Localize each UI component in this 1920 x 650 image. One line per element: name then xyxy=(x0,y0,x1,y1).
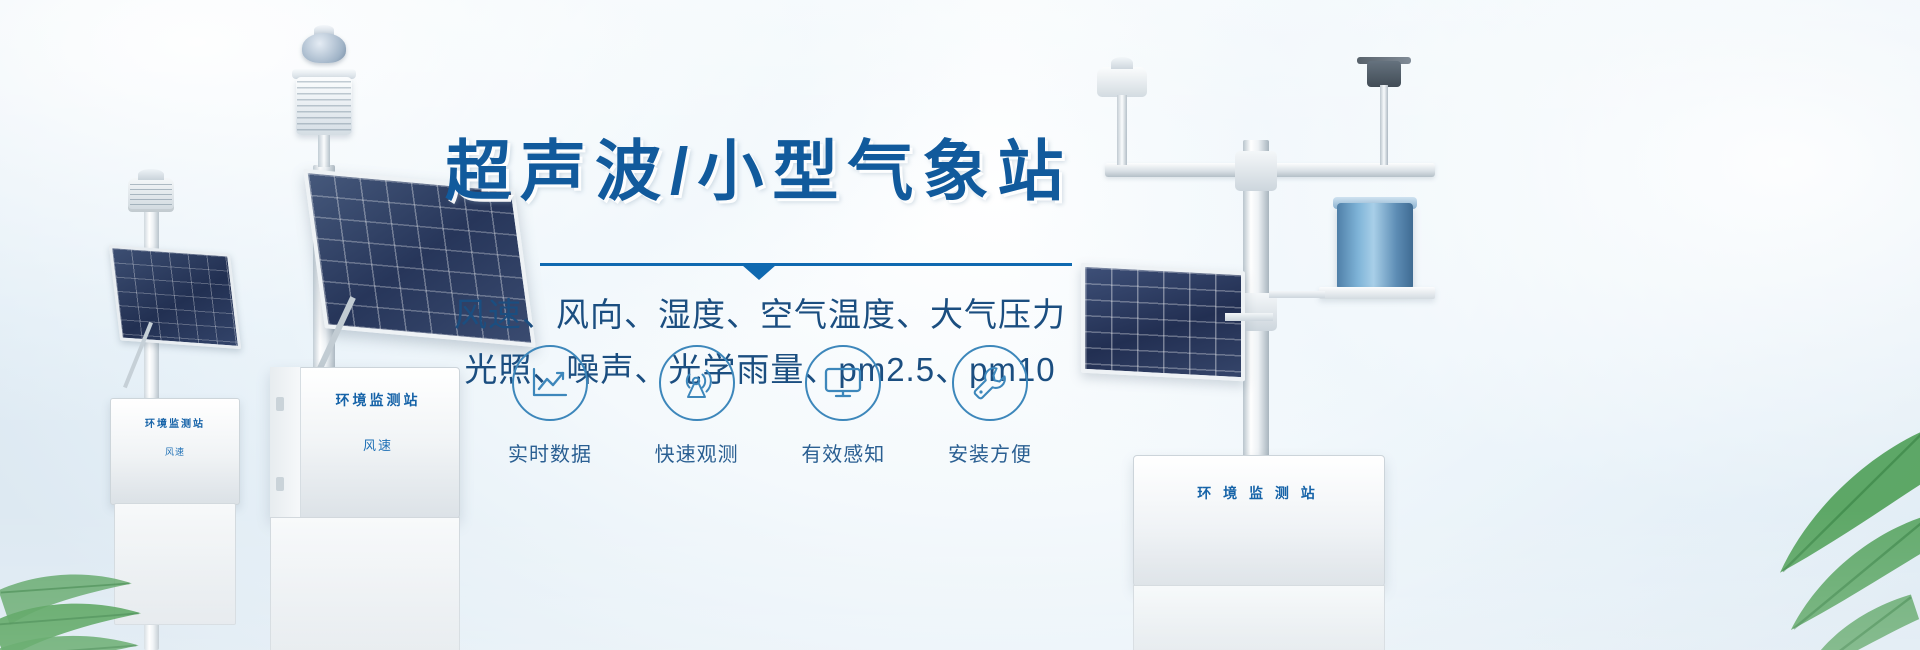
feature-item-effective-sensing[interactable]: 有效感知 xyxy=(783,345,903,467)
total-radiation-dome-icon xyxy=(302,33,346,63)
solar-panel xyxy=(1081,263,1245,382)
page-title: 超声波/小型气象站 xyxy=(445,118,1105,214)
rain-gauge-icon xyxy=(1337,203,1413,289)
divider-triangle-marker xyxy=(742,265,776,280)
sensor-stem xyxy=(1380,85,1388,165)
feature-item-easy-installation[interactable]: 安装方便 xyxy=(930,345,1050,467)
feature-label: 安装方便 xyxy=(948,438,1032,467)
sensor-neck xyxy=(318,135,330,167)
feature-list: 实时数据 快速观测 xyxy=(490,345,1050,467)
brand-logo-label: 风速 xyxy=(111,445,239,458)
wrench-icon xyxy=(970,363,1010,403)
mast-clamp xyxy=(1235,151,1277,191)
weather-station-mast: 环 境 监 测 站 xyxy=(1075,55,1635,650)
subtitle-line-1: 风速、风向、湿度、空气温度、大气压力 xyxy=(430,288,1090,336)
sensor-stem xyxy=(1117,95,1127,165)
equipment-shelf xyxy=(1319,287,1435,299)
cabinet-hinge xyxy=(276,477,284,491)
title-divider xyxy=(540,258,1072,280)
cabinet-label: 环 境 监 测 站 xyxy=(1133,483,1383,503)
line-chart-icon xyxy=(530,366,570,400)
feature-item-fast-observation[interactable]: 快速观测 xyxy=(637,345,757,467)
wind-vane-icon xyxy=(1367,61,1401,87)
shield-louvers xyxy=(297,81,351,131)
palm-leaf-decoration-right xyxy=(1630,390,1920,650)
cabinet-label: 环境监测站 xyxy=(111,415,239,430)
divider-line xyxy=(540,263,1072,266)
feature-icon-circle xyxy=(659,345,735,421)
feature-label: 快速观测 xyxy=(655,438,739,467)
cabinet-door xyxy=(270,367,301,517)
solar-panel-arm xyxy=(1225,313,1273,321)
ultrasonic-sensor-icon xyxy=(1097,67,1147,97)
cabinet-lower-body xyxy=(1133,585,1385,650)
feature-icon-circle xyxy=(952,345,1028,421)
cabinet-lower-body xyxy=(114,503,236,625)
banner-text-block: 超声波/小型气象站 风速、风向、湿度、空气温度、大气压力 光照、噪声、光学雨量、… xyxy=(430,100,1090,600)
cabinet-hinge xyxy=(276,397,284,411)
feature-icon-circle xyxy=(805,345,881,421)
monitor-screen-icon xyxy=(822,365,864,401)
equipment-cabinet: 环境监测站 风速 xyxy=(110,398,240,505)
shield-louvers xyxy=(130,184,172,206)
equipment-cabinet xyxy=(1133,455,1385,587)
feature-icon-circle xyxy=(512,345,588,421)
solar-panel xyxy=(109,245,242,349)
shelf-support-arm xyxy=(1269,291,1325,298)
feature-item-realtime-data[interactable]: 实时数据 xyxy=(490,345,610,467)
radar-signal-icon xyxy=(677,364,717,402)
weather-station-small: 环境监测站 风速 xyxy=(100,170,270,650)
feature-label: 实时数据 xyxy=(508,438,592,467)
feature-label: 有效感知 xyxy=(801,438,885,467)
product-banner: 环境监测站 风速 环境监测站 风速 xyxy=(0,0,1920,650)
